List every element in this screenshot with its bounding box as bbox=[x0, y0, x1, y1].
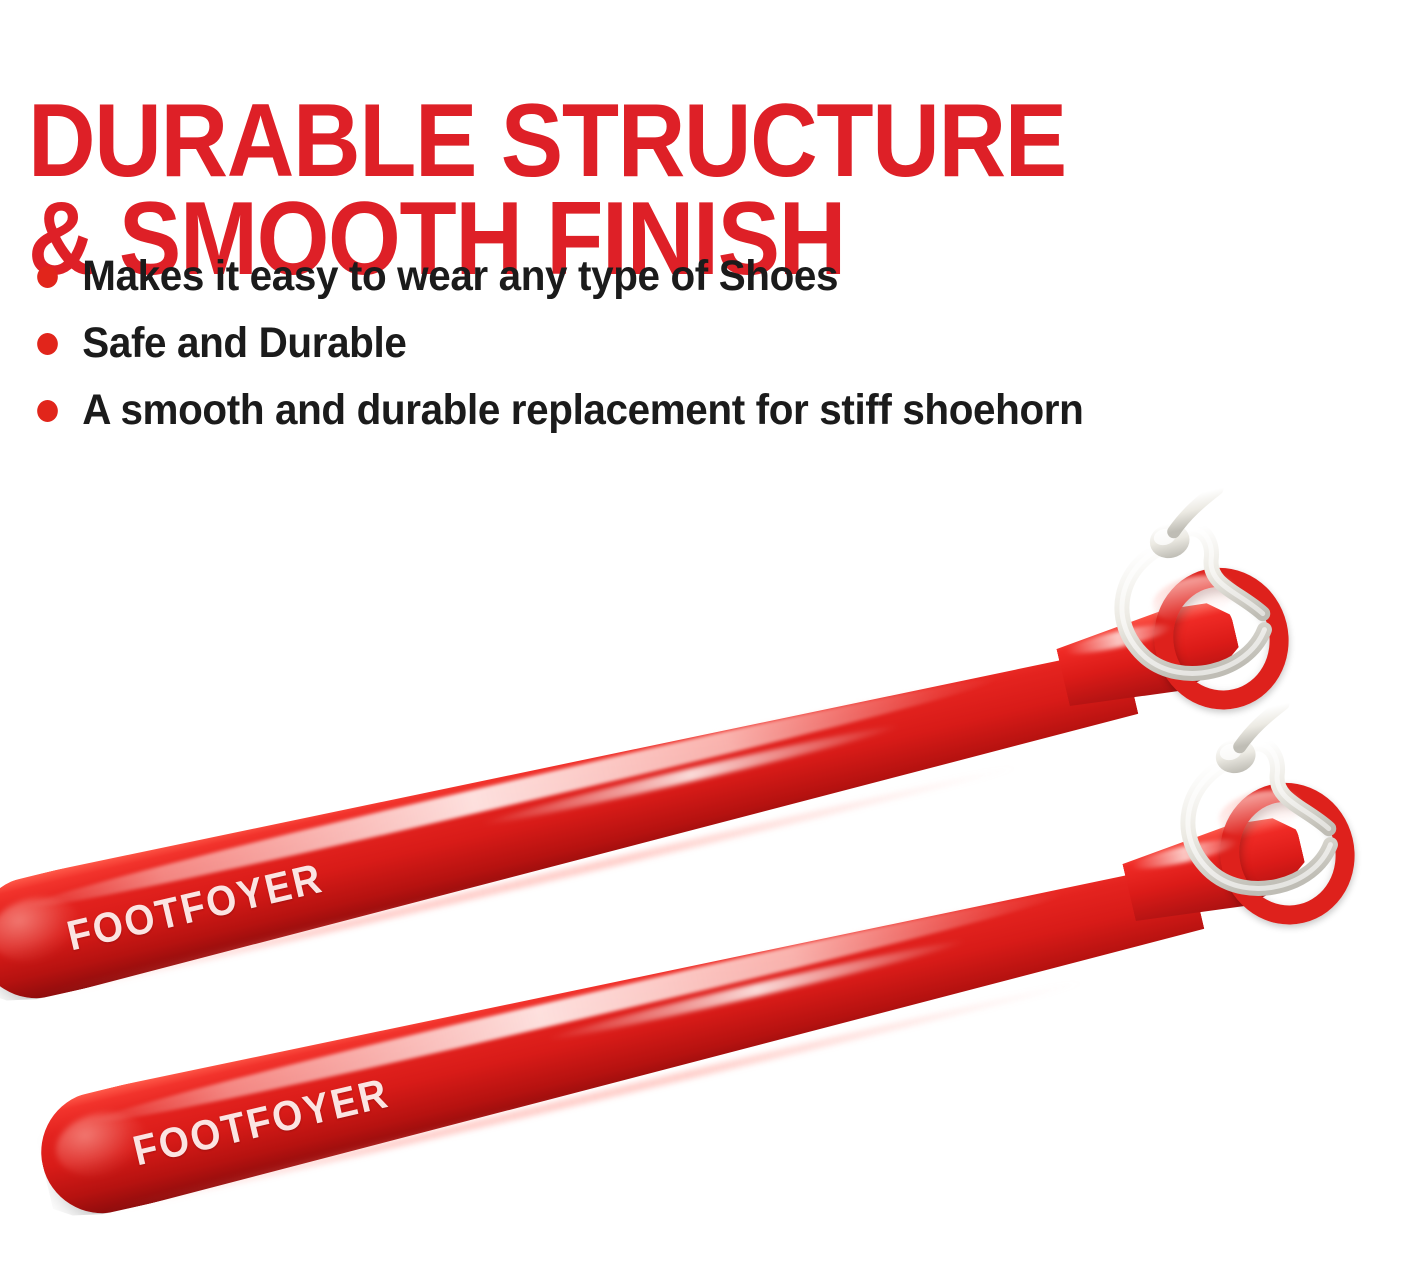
list-item: Safe and Durable bbox=[24, 314, 1133, 373]
feature-text: Makes it easy to wear any type of Shoes bbox=[82, 252, 838, 300]
bullet-dot-icon bbox=[37, 400, 58, 422]
feature-list: Makes it easy to wear any type of Shoes … bbox=[24, 247, 1204, 448]
product-image: FOOTFOYER bbox=[0, 560, 1423, 1272]
list-item: Makes it easy to wear any type of Shoes bbox=[24, 247, 1133, 306]
list-item: A smooth and durable replacement for sti… bbox=[24, 381, 1133, 440]
feature-text: Safe and Durable bbox=[82, 319, 406, 367]
product-feature-banner: DURABLE STRUCTURE & SMOOTH FINISH Makes … bbox=[0, 0, 1423, 1272]
feature-text: A smooth and durable replacement for sti… bbox=[82, 386, 1083, 434]
bullet-dot-icon bbox=[37, 333, 58, 355]
bullet-dot-icon bbox=[37, 266, 58, 288]
